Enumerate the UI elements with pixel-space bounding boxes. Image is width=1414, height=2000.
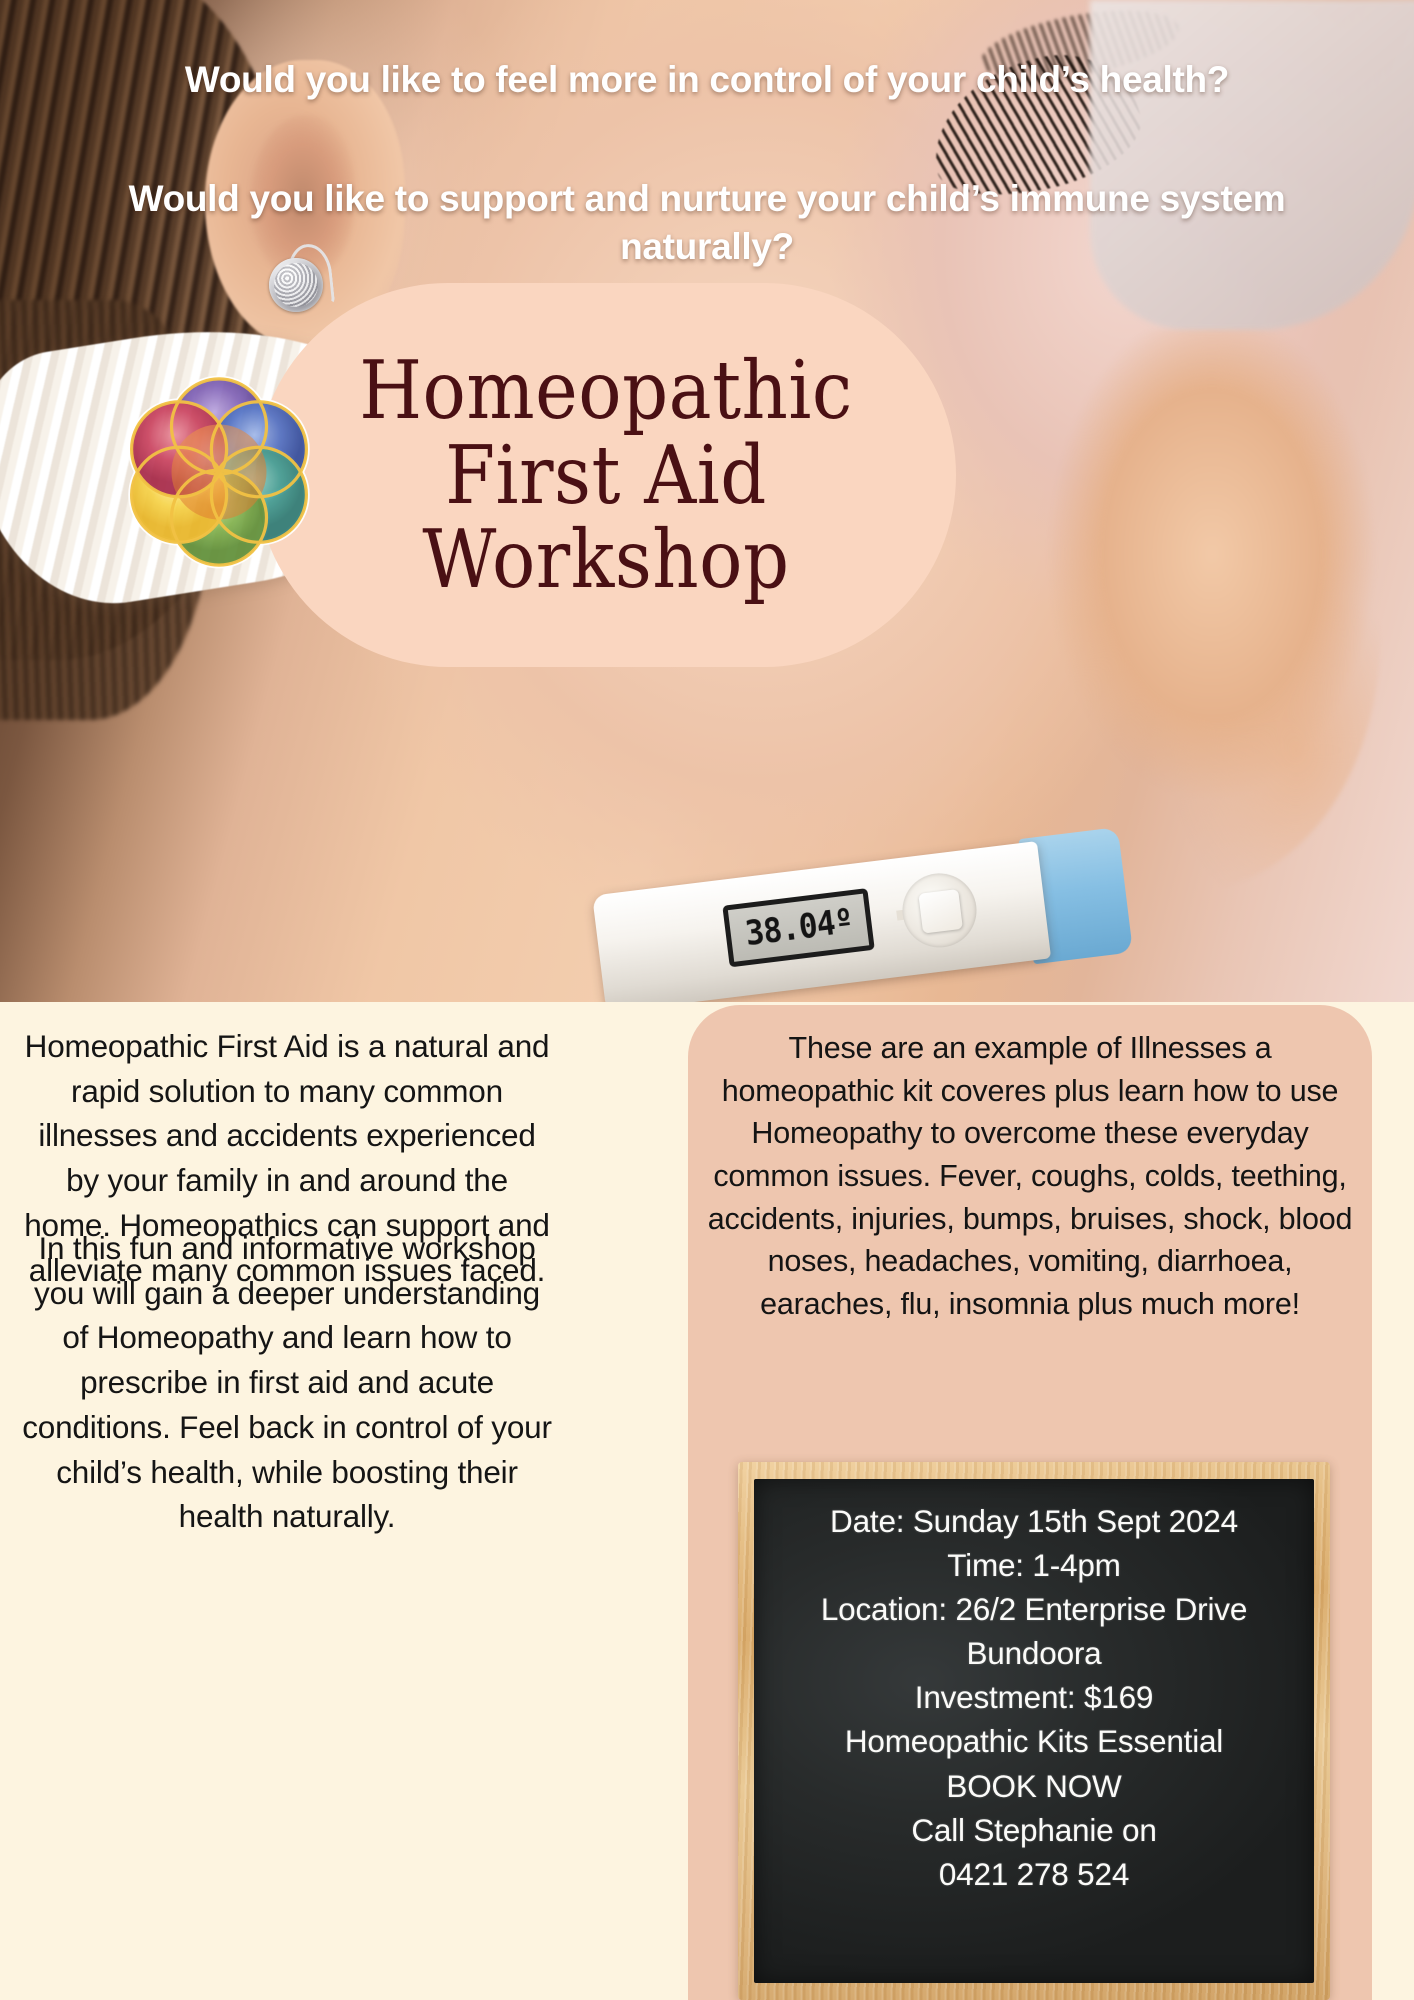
event-location-line-1: Location: 26/2 Enterprise Drive (821, 1587, 1247, 1631)
event-details-text: Date: Sunday 15th Sept 2024 Time: 1-4pm … (821, 1499, 1247, 1896)
event-kits-note: Homeopathic Kits Essential (821, 1719, 1247, 1763)
page-title: Homeopathic First Aid Workshop (359, 348, 853, 602)
thermometer-power-button[interactable] (918, 889, 963, 934)
event-date: Date: Sunday 15th Sept 2024 (821, 1499, 1247, 1543)
title-line-3: Workshop (359, 517, 853, 602)
contact-name: Call Stephanie on (821, 1808, 1247, 1852)
title-line-2: First Aid (359, 433, 853, 518)
hero-photo: 38.04º Would you like to feel more in co… (0, 0, 1414, 1002)
poster-root: 38.04º Would you like to feel more in co… (0, 0, 1414, 2000)
headline-primary: Would you like to feel more in control o… (0, 56, 1414, 104)
event-time: Time: 1-4pm (821, 1543, 1247, 1587)
thermometer-reading: 38.04º (743, 901, 855, 954)
illness-content: These are an example of Illnesses a home… (706, 1027, 1354, 1326)
event-investment: Investment: $169 (821, 1675, 1247, 1719)
blanket-shape (1090, 0, 1414, 330)
event-details-chalkboard: Date: Sunday 15th Sept 2024 Time: 1-4pm … (738, 1462, 1330, 2000)
book-now-cta[interactable]: BOOK NOW (821, 1764, 1247, 1808)
contact-phone[interactable]: 0421 278 524 (821, 1852, 1247, 1896)
title-oval-badge: Homeopathic First Aid Workshop (256, 283, 956, 667)
chalkboard-surface: Date: Sunday 15th Sept 2024 Time: 1-4pm … (754, 1479, 1314, 1983)
title-line-1: Homeopathic (359, 348, 853, 433)
workshop-paragraph: In this fun and informative workshop you… (22, 1226, 552, 1539)
event-location-line-2: Bundoora (821, 1631, 1247, 1675)
headline-secondary: Would you like to support and nurture yo… (0, 175, 1414, 271)
flower-of-life-logo (124, 374, 314, 570)
